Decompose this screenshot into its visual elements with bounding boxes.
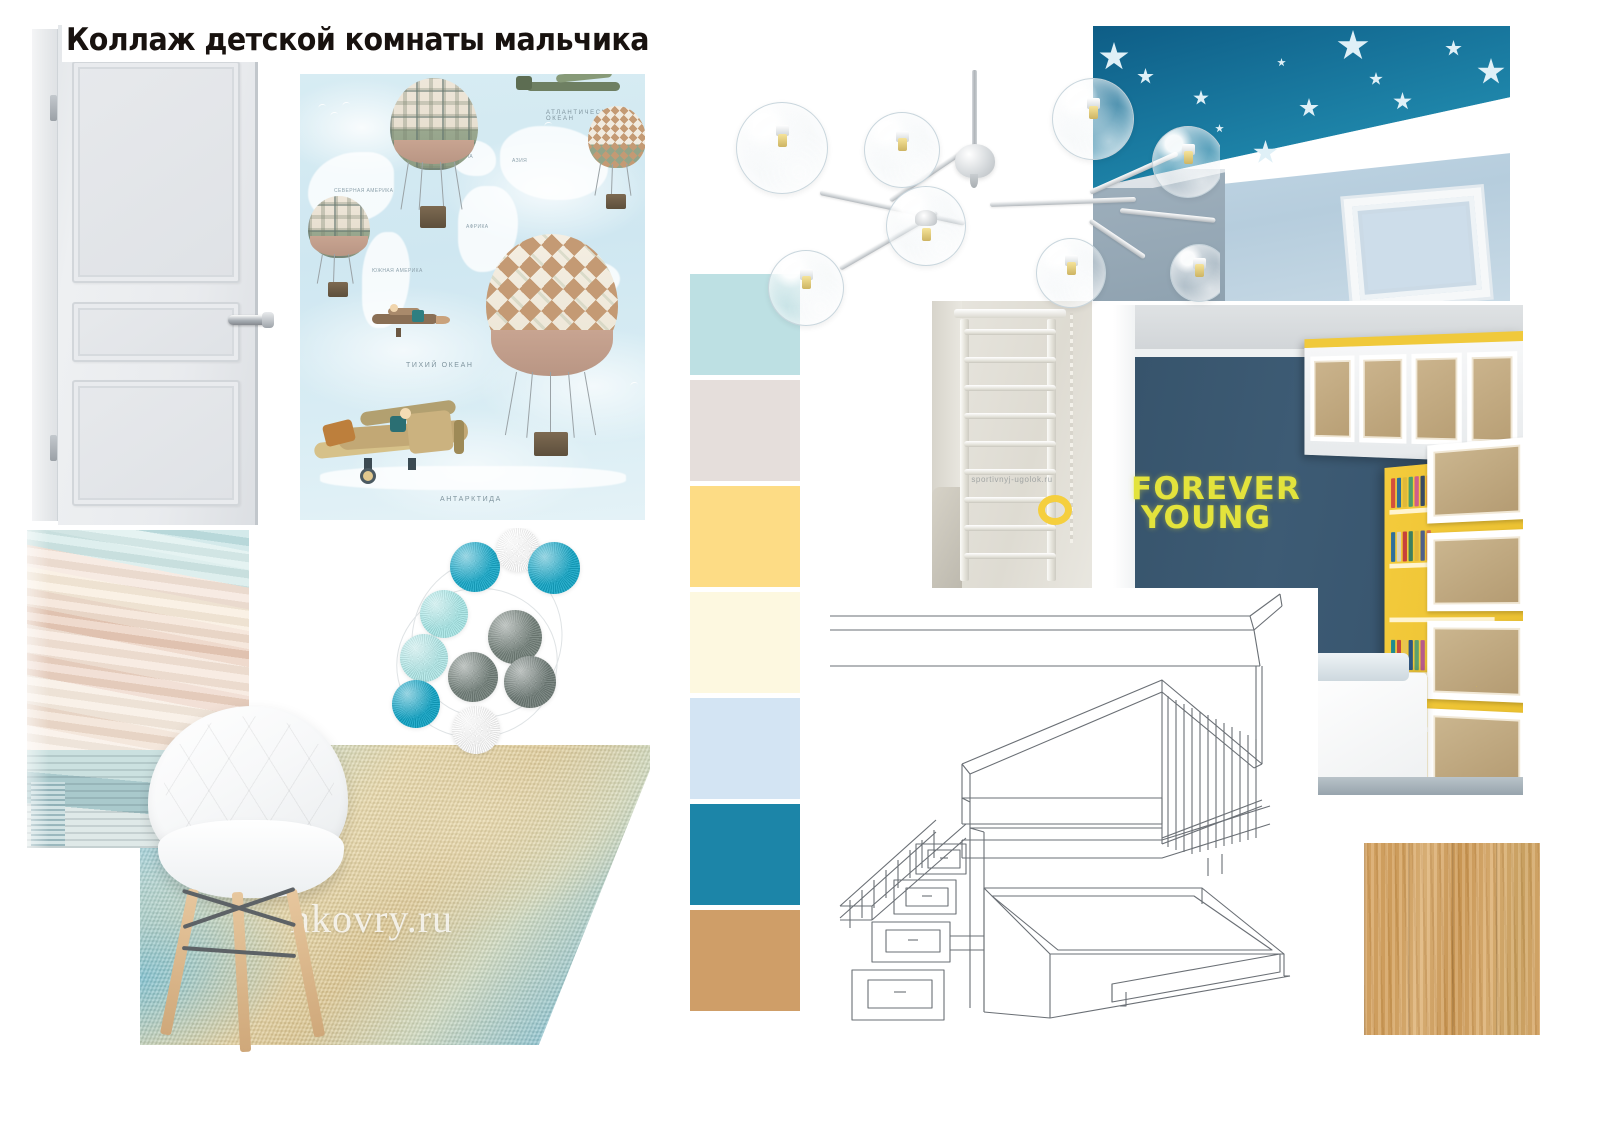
chair-seat-pad bbox=[158, 820, 344, 898]
color-swatch-warm-grey[interactable] bbox=[690, 380, 800, 481]
wall-panel bbox=[1427, 529, 1523, 611]
page-title: Коллаж детской комнаты мальчика bbox=[62, 20, 710, 62]
color-swatch-cream[interactable] bbox=[690, 592, 800, 693]
light-globe bbox=[1152, 126, 1220, 198]
blind-highlight bbox=[27, 530, 49, 848]
bed-sketch-svg bbox=[810, 588, 1318, 1034]
door-hinge-top bbox=[50, 95, 57, 121]
hot-air-balloon bbox=[308, 196, 370, 308]
bars-rung bbox=[964, 357, 1056, 363]
chandelier-arm bbox=[1120, 208, 1216, 223]
cabinet-door bbox=[1467, 351, 1517, 447]
poster-label-sa: ЮЖНАЯ АМЕРИКА bbox=[372, 268, 423, 274]
door-panel-middle bbox=[72, 302, 240, 362]
bulb-filament bbox=[898, 138, 907, 151]
bulb-filament bbox=[1184, 151, 1193, 164]
bulb-socket bbox=[915, 210, 937, 226]
poster-image: СЕВЕРНАЯ АМЕРИКА ЕВРОПА АЗИЯ АФРИКА ЮЖНА… bbox=[300, 74, 645, 520]
door-panel-upper bbox=[72, 61, 240, 283]
color-swatch-caramel[interactable] bbox=[690, 910, 800, 1011]
color-swatch-warm-yellow[interactable] bbox=[690, 486, 800, 587]
light-globe bbox=[1052, 78, 1134, 160]
wall-panel bbox=[1427, 437, 1523, 524]
wall-lettering: FOREVER YOUNG bbox=[1131, 475, 1301, 532]
bulb-filament bbox=[1067, 262, 1076, 275]
garland-ball bbox=[420, 590, 468, 638]
bars-rung bbox=[964, 413, 1056, 419]
cabinet-door bbox=[1359, 354, 1406, 444]
gymnastic-ring bbox=[1038, 495, 1072, 525]
garland-ball bbox=[392, 680, 440, 728]
wood-texture bbox=[1364, 843, 1540, 1035]
cabinet-door bbox=[1310, 355, 1354, 442]
garland-ball bbox=[400, 634, 448, 682]
poster-label-as: АЗИЯ bbox=[512, 158, 527, 164]
bulb-filament bbox=[1089, 106, 1098, 119]
light-globe bbox=[1170, 244, 1220, 302]
biplane-icon bbox=[304, 382, 500, 492]
bars-rung bbox=[964, 553, 1056, 559]
wall-bars-watermark: sportivnyj-ugolok.ru bbox=[938, 475, 1086, 484]
hot-air-balloon-large bbox=[486, 234, 618, 464]
cabinet-door bbox=[1411, 353, 1461, 446]
poster-label-na: СЕВЕРНАЯ АМЕРИКА bbox=[334, 188, 393, 194]
bulb-filament bbox=[778, 134, 787, 147]
chandelier-hub bbox=[955, 144, 995, 178]
door-leaf bbox=[58, 25, 258, 525]
chandelier-arm bbox=[990, 197, 1136, 207]
garland-ball bbox=[504, 656, 556, 708]
garland-ball bbox=[528, 542, 580, 594]
garland-ball bbox=[452, 706, 500, 754]
wood-flooring-sample bbox=[1364, 843, 1540, 1035]
bars-frame bbox=[960, 319, 1056, 581]
chair-leg bbox=[160, 888, 199, 1035]
chandelier-rod bbox=[972, 70, 977, 148]
bulb-filament bbox=[922, 228, 931, 241]
airplane-icon bbox=[366, 302, 450, 340]
poster-word-antarctica: АНТАРКТИДА bbox=[440, 496, 502, 503]
bulb-filament bbox=[1195, 264, 1204, 277]
light-globe bbox=[736, 102, 828, 194]
light-globe bbox=[768, 250, 844, 326]
color-palette bbox=[690, 274, 800, 1016]
framed-wall-panels bbox=[1424, 437, 1523, 795]
bulb-filament bbox=[802, 276, 811, 289]
bed-blueprint-sketch bbox=[810, 588, 1318, 1034]
bars-rung bbox=[964, 385, 1056, 391]
white-bed bbox=[1299, 673, 1427, 791]
wall-bars-image: sportivnyj-ugolok.ru bbox=[932, 301, 1092, 589]
color-swatch-pale-blue[interactable] bbox=[690, 698, 800, 799]
garland-ball bbox=[448, 652, 498, 702]
cotton-ball-garland-image bbox=[368, 528, 618, 768]
light-globe bbox=[864, 112, 940, 188]
light-globe bbox=[1036, 238, 1106, 308]
chair-leg bbox=[232, 892, 251, 1052]
chair-leg bbox=[286, 888, 325, 1037]
hot-air-balloon bbox=[390, 78, 478, 238]
hot-air-balloon bbox=[588, 106, 645, 218]
poster-word-pacific: ТИХИЙ ОКЕАН bbox=[406, 362, 474, 369]
page-title-text: Коллаж детской комнаты мальчика bbox=[66, 22, 649, 58]
wall-panel bbox=[1427, 621, 1523, 703]
bars-rung bbox=[964, 525, 1056, 531]
chandelier-image bbox=[700, 70, 1220, 340]
bars-foreground-object bbox=[932, 487, 962, 589]
door-panel-lower bbox=[72, 380, 240, 506]
mood-board: Коллаж детской комнаты мальчика СЕВЕРНАЯ… bbox=[0, 0, 1600, 1130]
bars-rung bbox=[964, 441, 1056, 447]
wall-moulding-frame bbox=[1343, 187, 1490, 301]
color-swatch-teal[interactable] bbox=[690, 804, 800, 905]
wall-lettering-line2: YOUNG bbox=[1141, 504, 1301, 533]
door-hinge-bottom bbox=[50, 435, 57, 461]
light-globe-center bbox=[886, 186, 966, 266]
chair-image bbox=[140, 700, 370, 1080]
garland-ball bbox=[450, 542, 500, 592]
airplane-icon bbox=[516, 74, 636, 108]
door-image bbox=[24, 25, 274, 525]
door-handle-icon bbox=[228, 315, 270, 325]
